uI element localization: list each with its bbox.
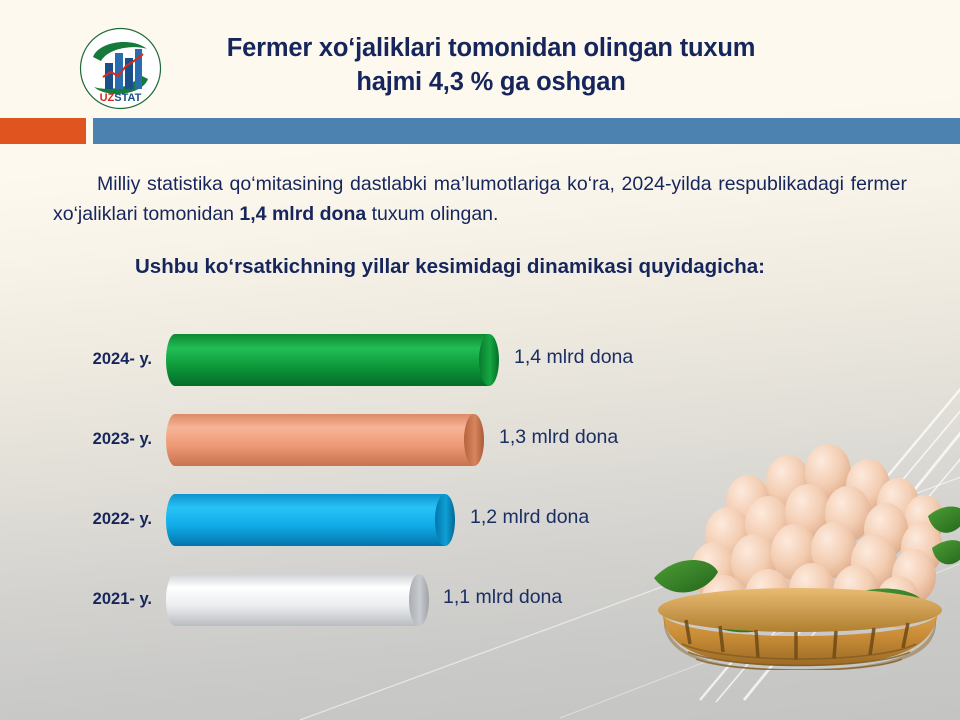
accent-band-blue	[93, 118, 960, 144]
page-title-line1: Fermer xo‘jaliklari tomonidan olingan tu…	[168, 31, 814, 65]
bar-label-2024: 2024- y.	[0, 350, 152, 369]
logo-text-uz: UZ	[100, 92, 115, 104]
bar-value-2022: 1,2 mlrd dona	[470, 506, 589, 529]
bar-cylinder-2022	[166, 494, 458, 546]
page-title: Fermer xo‘jaliklari tomonidan olingan tu…	[168, 31, 814, 100]
bar-label-2022: 2022- y.	[0, 510, 152, 529]
chart-subtitle: Ushbu ko‘rsatkichning yillar kesimidagi …	[0, 255, 900, 279]
chart-row-2022: 2022- y.	[0, 494, 960, 554]
bar-cylinder-2023	[166, 414, 487, 466]
bar-value-2024: 1,4 mlrd dona	[514, 346, 633, 369]
intro-paragraph: Milliy statistika qo‘mitasining dastlabk…	[53, 169, 907, 229]
logo-text-stat: STAT	[114, 92, 141, 104]
bar-value-2023: 1,3 mlrd dona	[499, 426, 618, 449]
bar-chart: 2024- y.	[0, 312, 960, 642]
bar-cylinder-2024	[166, 334, 502, 386]
svg-text:UZSTAT: UZSTAT	[100, 92, 142, 104]
chart-row-2024: 2024- y.	[0, 334, 960, 394]
intro-paragraph-part2: tuxum olingan.	[366, 203, 498, 225]
chart-row-2021: 2021- y.	[0, 574, 960, 634]
slide-header: UZSTAT Fermer xo‘jaliklari tomonidan oli…	[0, 0, 960, 118]
infographic-slide: UZSTAT Fermer xo‘jaliklari tomonidan oli…	[0, 0, 960, 720]
chart-row-2023: 2023- y.	[0, 414, 960, 474]
page-title-line2: hajmi 4,3 % ga oshgan	[168, 65, 814, 99]
uzstat-logo-icon: UZSTAT	[79, 27, 162, 110]
intro-paragraph-highlight: 1,4 mlrd dona	[239, 203, 366, 225]
bar-label-2023: 2023- y.	[0, 430, 152, 449]
bar-value-2021: 1,1 mlrd dona	[443, 586, 562, 609]
accent-band-orange	[0, 118, 86, 144]
bar-label-2021: 2021- y.	[0, 590, 152, 609]
accent-band	[0, 118, 960, 144]
bar-cylinder-2021	[166, 574, 432, 626]
